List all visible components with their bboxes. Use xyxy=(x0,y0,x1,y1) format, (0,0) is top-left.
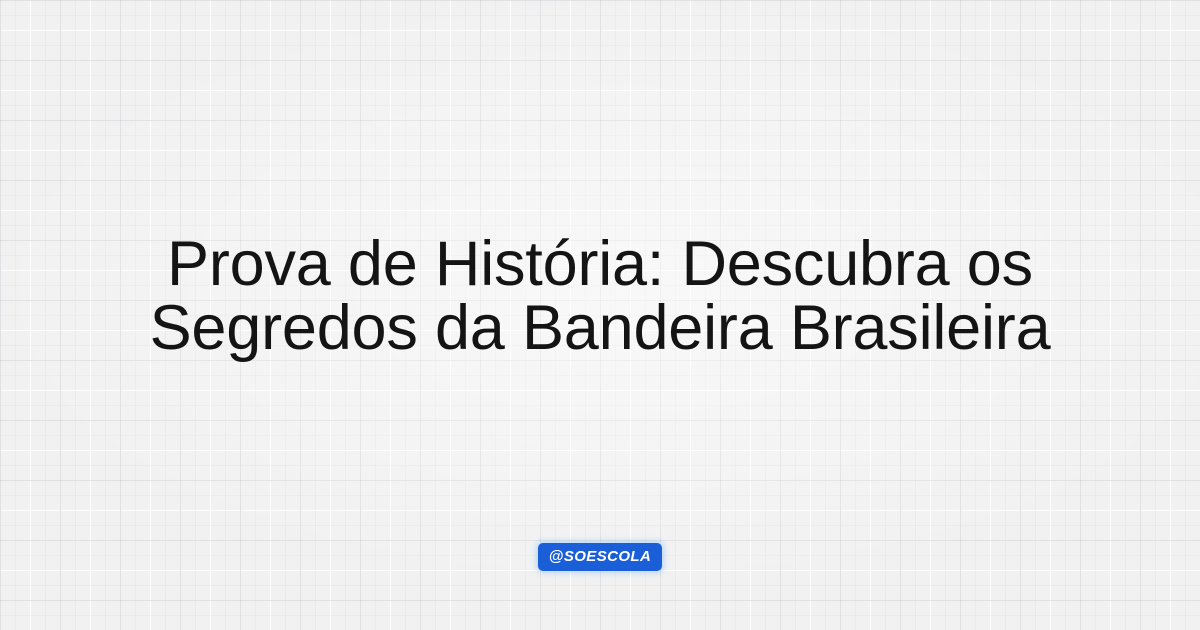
headline-container: Prova de História: Descubra os Segredos … xyxy=(0,232,1200,360)
page-title: Prova de História: Descubra os Segredos … xyxy=(100,232,1100,360)
badge-container: @SOESCOLA xyxy=(0,543,1200,571)
social-share-card: Prova de História: Descubra os Segredos … xyxy=(0,0,1200,630)
brand-handle-badge: @SOESCOLA xyxy=(538,543,662,571)
